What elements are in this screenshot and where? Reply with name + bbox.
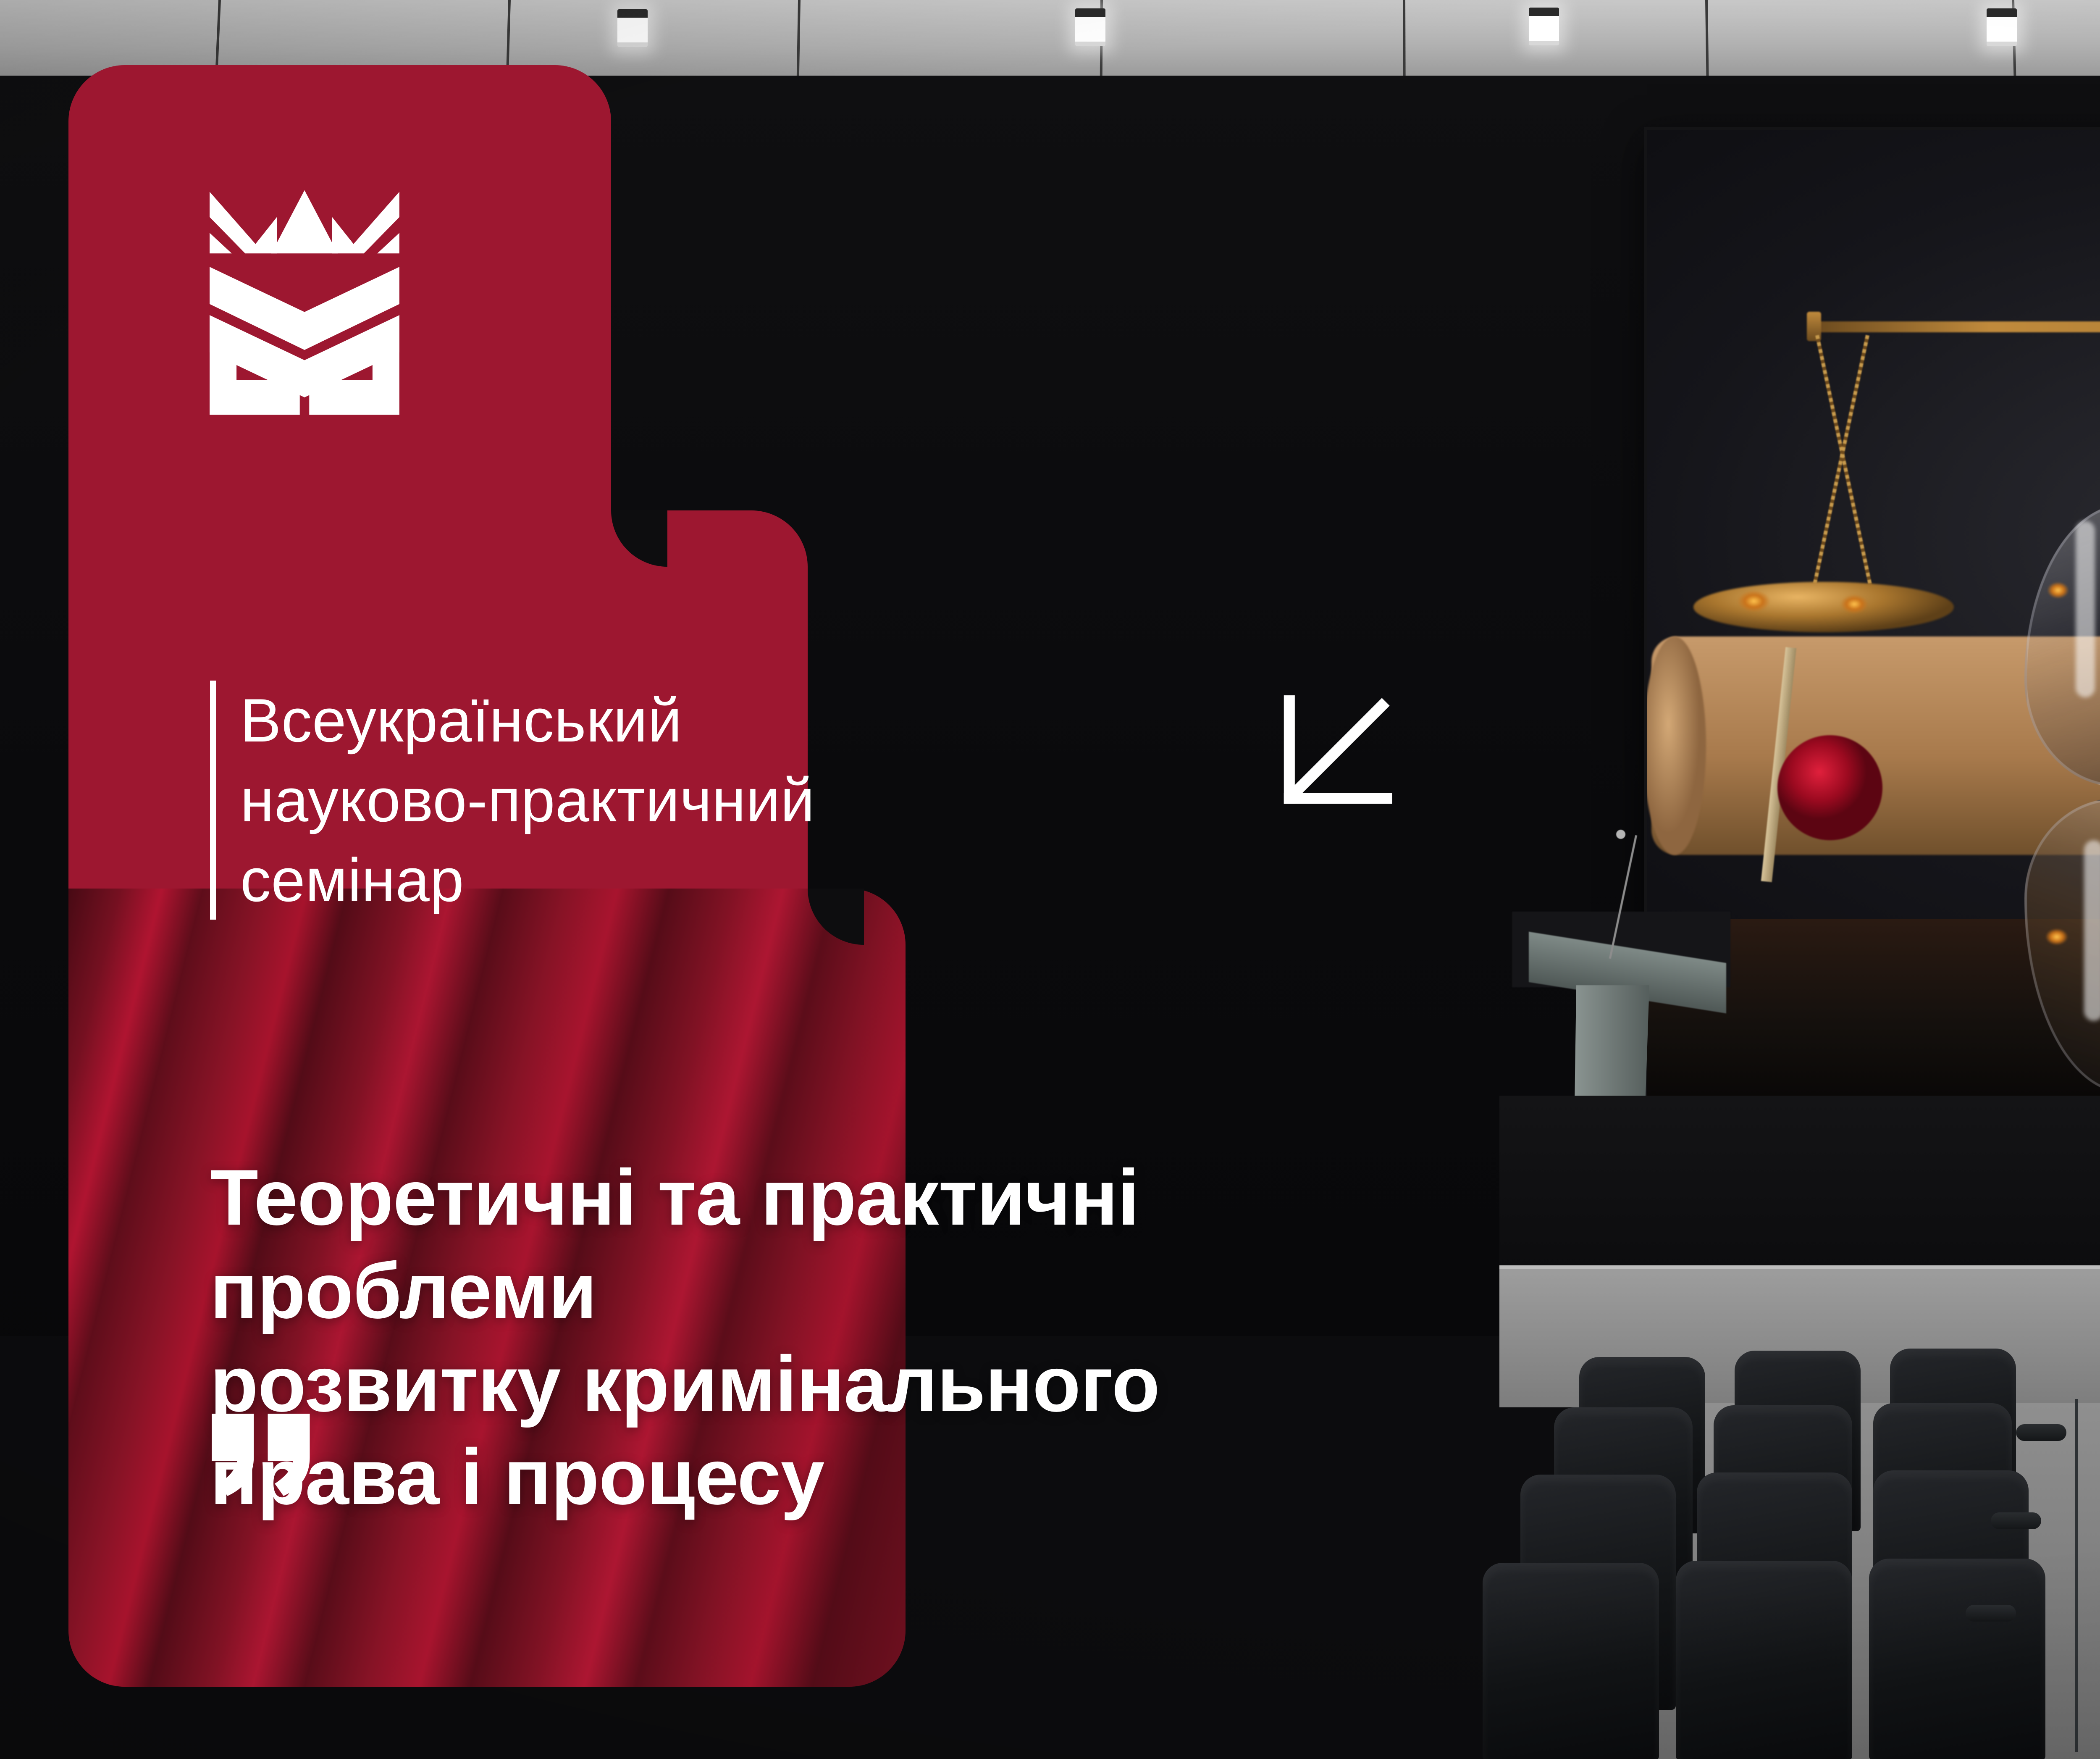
poster-content: Всеукраїнський науково-практичний семіна… xyxy=(0,0,2100,1759)
subtitle-text: Всеукраїнський науково-практичний семіна… xyxy=(240,681,815,920)
event-poster: Всеукраїнський науково-практичний семіна… xyxy=(0,0,2100,1759)
crown-book-emblem-icon xyxy=(202,168,407,437)
subtitle-block: Всеукраїнський науково-практичний семіна… xyxy=(210,681,815,920)
page-title: Теоретичні та практичні проблеми розвитк… xyxy=(210,1151,1512,1524)
arrow-down-left-icon[interactable] xyxy=(1275,691,1396,813)
subtitle-accent-bar xyxy=(210,681,216,920)
closing-quote-mark-icon xyxy=(210,1412,315,1500)
